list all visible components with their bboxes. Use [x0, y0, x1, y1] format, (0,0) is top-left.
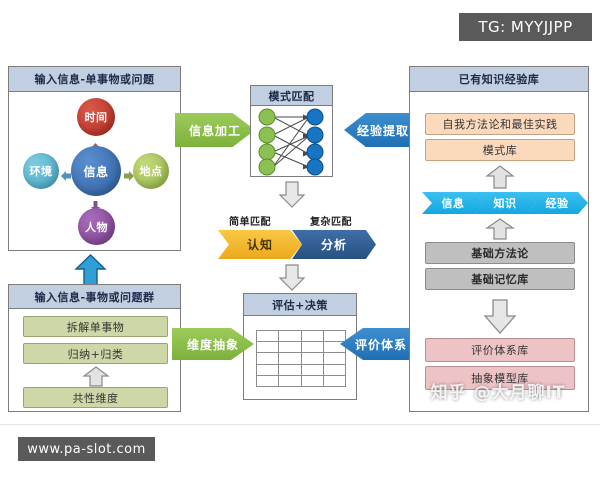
- kb-item-base-methodology: 基础方法论: [425, 242, 575, 264]
- site-watermark: www.pa-slot.com: [18, 437, 155, 461]
- arrow-up-to-methodology: [485, 165, 515, 189]
- callout-dimension-abstract: 维度抽象: [172, 328, 254, 360]
- node-time: 时间: [77, 98, 115, 136]
- arrow-place-link: [124, 166, 133, 175]
- table-row: [257, 364, 346, 375]
- arrow-down-flow-to-decision: [278, 263, 306, 291]
- kb-chevron-information: 信息: [422, 192, 484, 214]
- flow-analysis: 分析: [292, 230, 376, 259]
- kb-item-methodology: 自我方法论和最佳实践: [425, 113, 575, 135]
- arrow-center-to-person: [90, 197, 99, 206]
- arrow-up-to-chevrons: [485, 218, 515, 240]
- label-simple-match: 简单匹配: [222, 213, 278, 228]
- label-complex-match: 复杂匹配: [303, 213, 359, 228]
- kb-item-abstract-model-library: 抽象模型库: [425, 366, 575, 390]
- table-row: [257, 375, 346, 386]
- panel-decision-title: 评估+决策: [244, 294, 356, 316]
- arrow-down-to-evaluation: [482, 298, 518, 334]
- decision-grid: [256, 330, 346, 387]
- panel-decision: 评估+决策: [243, 293, 357, 400]
- diagram-canvas: TG: MYYJJPP 输入信息-单事物或问题 时间 环境 信息 地点 人物: [0, 0, 600, 480]
- panel-input-group: 输入信息-事物或问题群 拆解单事物 归纳+归类 共性维度: [8, 284, 181, 412]
- panel-input-single: 输入信息-单事物或问题 时间 环境 信息 地点 人物: [8, 66, 181, 251]
- table-row: [257, 342, 346, 353]
- panel-pattern-match: 模式匹配: [250, 85, 333, 177]
- node-environment: 环境: [23, 153, 59, 189]
- kb-item-base-memory: 基础记忆库: [425, 268, 575, 290]
- panel-knowledge-base: 已有知识经验库 自我方法论和最佳实践 模式库 信息 知识 经验 基础方法论 基础…: [409, 66, 589, 412]
- arrow-up-within-group: [82, 366, 110, 387]
- panel-input-group-title: 输入信息-事物或问题群: [9, 285, 180, 309]
- table-row: [257, 353, 346, 364]
- kb-item-evaluation-library: 评价体系库: [425, 338, 575, 362]
- node-information: 信息: [71, 146, 121, 196]
- node-person: 人物: [78, 208, 115, 245]
- bottom-divider: [0, 424, 600, 425]
- panel-knowledge-base-title: 已有知识经验库: [410, 67, 588, 92]
- decision-grid-table: [256, 330, 346, 387]
- flow-cognition: 认知: [218, 230, 302, 259]
- kb-item-pattern-library: 模式库: [425, 139, 575, 161]
- item-common-dimension: 共性维度: [23, 387, 168, 408]
- callout-info-processing: 信息加工: [175, 113, 255, 147]
- panel-pattern-match-title: 模式匹配: [251, 86, 332, 106]
- node-place: 地点: [133, 153, 169, 189]
- arrow-down-pattern-to-flow: [278, 180, 306, 208]
- panel-input-single-title: 输入信息-单事物或问题: [9, 67, 180, 92]
- arrow-up-left-panels: [74, 254, 107, 287]
- table-row: [257, 331, 346, 342]
- arrow-env-link: [61, 166, 70, 175]
- item-decompose: 拆解单事物: [23, 316, 168, 337]
- item-induct-classify: 归纳+归类: [23, 343, 168, 364]
- pattern-match-network: [251, 106, 332, 177]
- telegram-watermark: TG: MYYJJPP: [459, 13, 592, 41]
